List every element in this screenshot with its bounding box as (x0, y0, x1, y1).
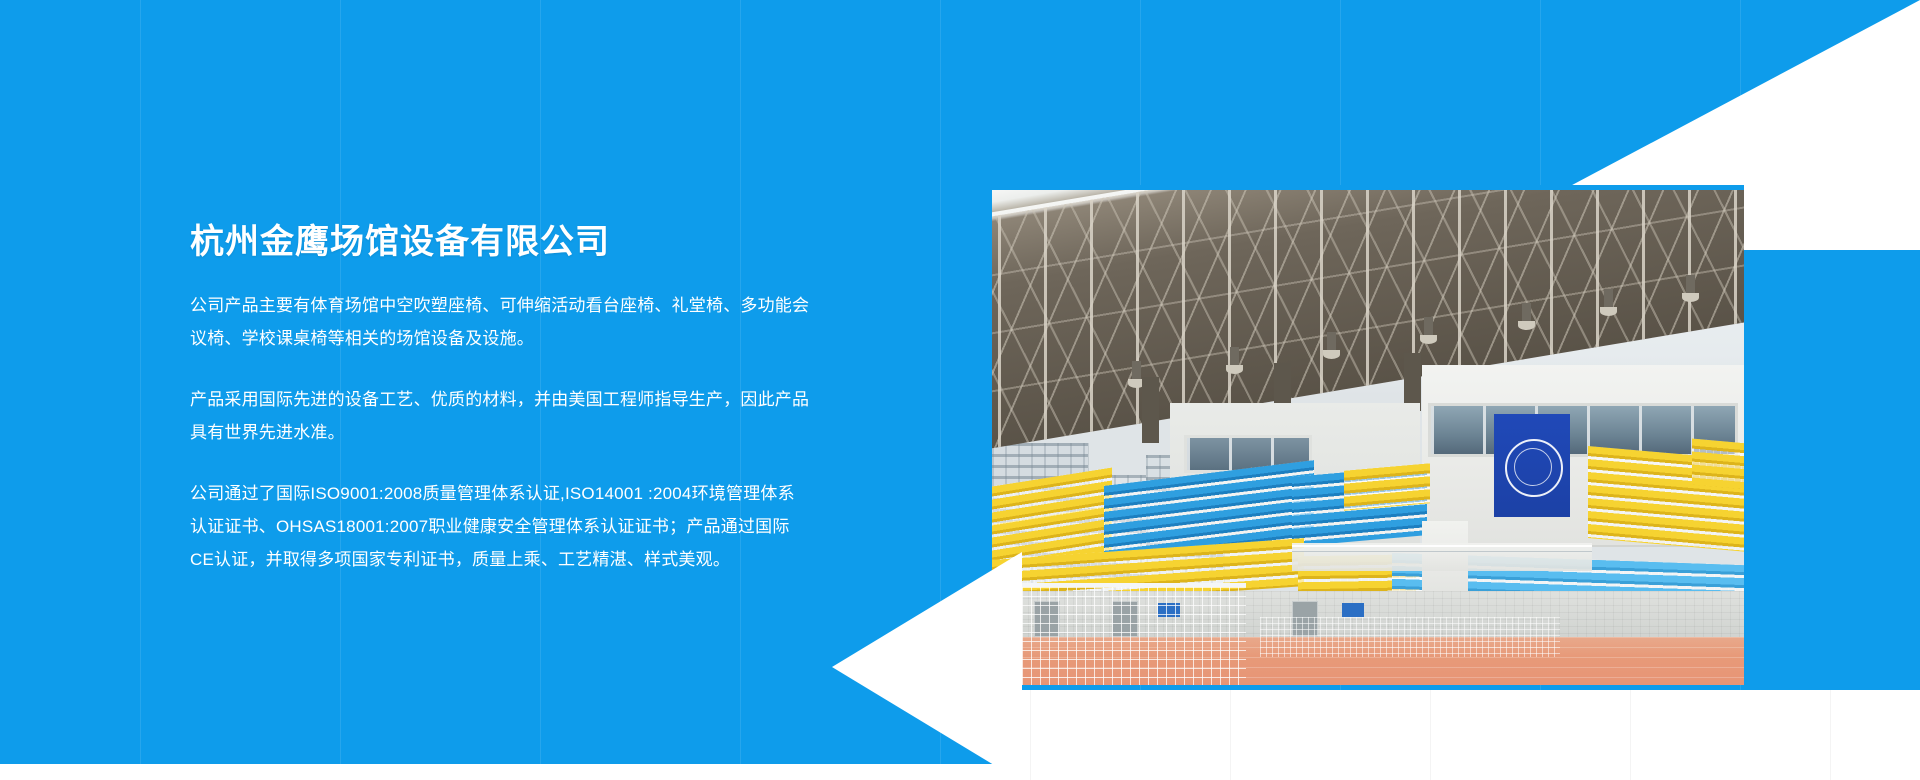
stadium-column (1142, 377, 1159, 443)
hero-paragraph-certifications: 公司通过了国际ISO9001:2008质量管理体系认证,ISO14001 :20… (190, 477, 810, 576)
stadium-lamp-icon (1230, 347, 1239, 367)
stadium-fence (1260, 617, 1560, 657)
stadium-photo-image (992, 185, 1744, 685)
soccer-goal-icon (1000, 583, 1246, 685)
stadium-lamp-icon (1327, 332, 1336, 352)
bottom-white-strip (0, 764, 1920, 780)
photo-top-strip (992, 185, 1744, 190)
stadium-banner (1494, 414, 1570, 517)
seat-block-yellow (1692, 439, 1744, 490)
university-seal-icon (1505, 439, 1563, 497)
stadium-lamp-icon (1604, 289, 1613, 309)
stadium-railing (1292, 545, 1592, 552)
hero-banner: 杭州金鹰场馆设备有限公司 公司产品主要有体育场馆中空吹塑座椅、可伸缩活动看台座椅… (0, 0, 1920, 780)
stadium-photo (992, 185, 1744, 685)
stadium-lamp-icon (1686, 275, 1695, 295)
hero-paragraph-products: 公司产品主要有体育场馆中空吹塑座椅、可伸缩活动看台座椅、礼堂椅、多功能会议椅、学… (190, 289, 810, 355)
page-title: 杭州金鹰场馆设备有限公司 (190, 222, 810, 263)
stadium-lamp-icon (1424, 317, 1433, 337)
hero-paragraph-quality: 产品采用国际先进的设备工艺、优质的材料，并由美国工程师指导生产，因此产品具有世界… (190, 383, 810, 449)
stadium-lamp-icon (1522, 303, 1531, 323)
hero-text-column: 杭州金鹰场馆设备有限公司 公司产品主要有体育场馆中空吹塑座椅、可伸缩活动看台座椅… (190, 222, 810, 576)
stadium-lamp-icon (1132, 361, 1141, 381)
seat-block-yellow (1344, 463, 1430, 511)
